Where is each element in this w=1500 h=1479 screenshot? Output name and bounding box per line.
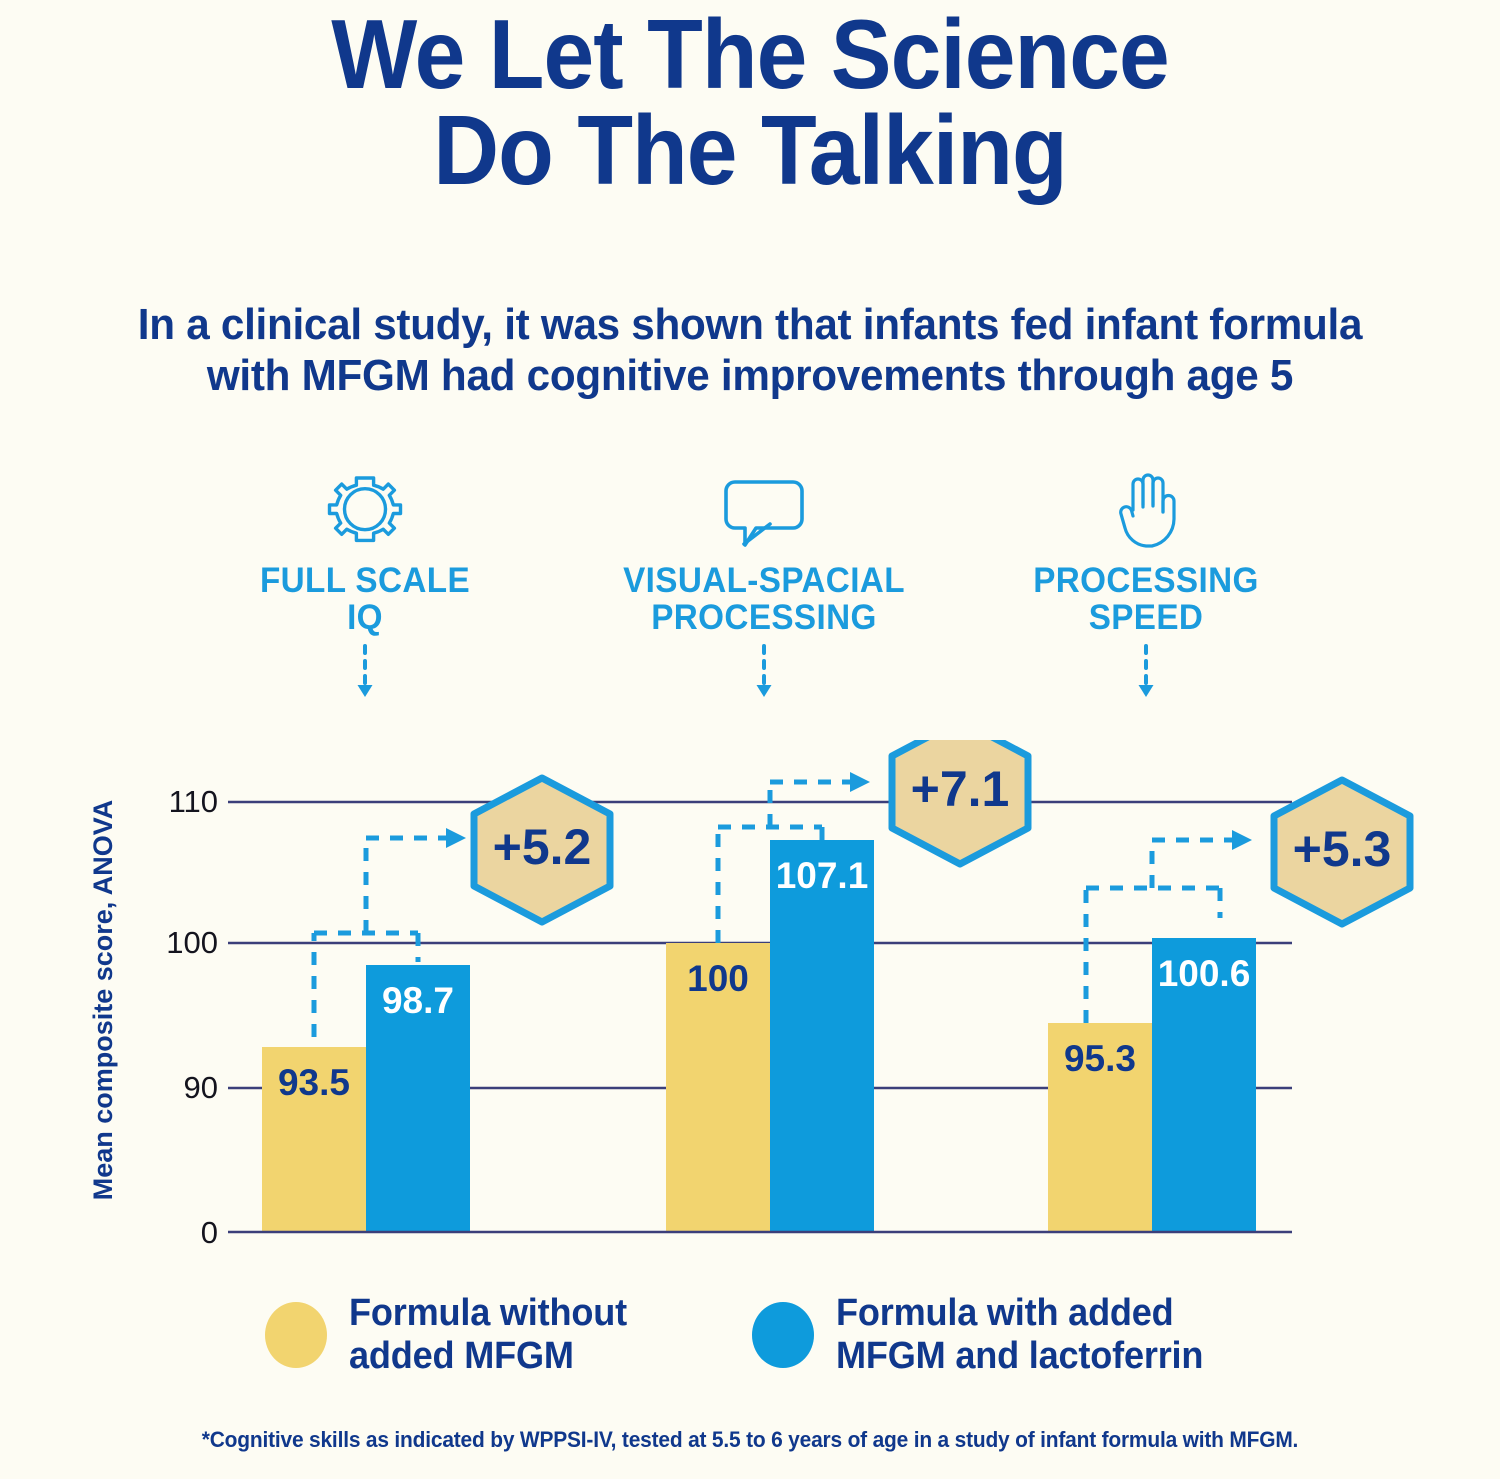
y-tick-label-90: 90 bbox=[184, 1070, 218, 1105]
delta-arrowhead-group-2 bbox=[850, 772, 870, 792]
y-tick-label-100: 100 bbox=[166, 925, 218, 960]
legend-swatch-yellow bbox=[265, 1302, 327, 1368]
delta-badge-value: +7.1 bbox=[911, 761, 1010, 817]
legend-item-with-mfgm: Formula with added MFGM and lactoferrin bbox=[752, 1292, 1223, 1377]
legend-label-line-2: added MFGM bbox=[349, 1335, 627, 1378]
subheading: In a clinical study, it was shown that i… bbox=[30, 300, 1470, 401]
delta-arrowhead-group-3 bbox=[1232, 830, 1252, 850]
bar-value-label: 98.7 bbox=[382, 980, 454, 1021]
headline-line-1: We Let The Science bbox=[53, 6, 1448, 102]
page-title: We Let The Science Do The Talking bbox=[53, 6, 1448, 198]
category-full-scale-iq: FULL SCALE IQ bbox=[215, 472, 515, 704]
delta-badge-value: +5.2 bbox=[493, 819, 592, 875]
subheading-line-2: with MFGM had cognitive improvements thr… bbox=[30, 351, 1470, 402]
legend-label-line-1: Formula without bbox=[349, 1292, 627, 1335]
bar-value-label: 95.3 bbox=[1064, 1038, 1136, 1079]
category-label: FULL SCALE IQ bbox=[223, 562, 508, 636]
category-label-line-1: FULL SCALE bbox=[223, 562, 508, 599]
delta-badge-group-3: +5.3 bbox=[1274, 780, 1410, 924]
bar-chart: Mean composite score, ANOVA 110 100 90 0… bbox=[0, 740, 1500, 1280]
y-axis-title: Mean composite score, ANOVA bbox=[88, 800, 118, 1201]
delta-badge-value: +5.3 bbox=[1293, 821, 1392, 877]
legend-item-without-mfgm: Formula without added MFGM bbox=[265, 1292, 642, 1377]
bar-with-mfgm-group-2 bbox=[770, 840, 874, 1232]
category-processing-speed: PROCESSING SPEED bbox=[996, 472, 1296, 704]
speech-bubble-icon bbox=[614, 472, 914, 554]
legend-swatch-blue bbox=[752, 1302, 814, 1368]
category-label-line-2: SPEED bbox=[1004, 599, 1289, 636]
gear-icon bbox=[215, 472, 515, 554]
chart-legend: Formula without added MFGM Formula with … bbox=[0, 1286, 1500, 1396]
delta-arrowhead-group-1 bbox=[446, 828, 466, 848]
legend-label: Formula with added MFGM and lactoferrin bbox=[836, 1292, 1203, 1377]
category-label: PROCESSING SPEED bbox=[1004, 562, 1289, 636]
footnote: *Cognitive skills as indicated by WPPSI-… bbox=[53, 1427, 1448, 1453]
category-label-line-1: VISUAL-SPACIAL bbox=[622, 562, 907, 599]
bar-value-label: 100 bbox=[687, 958, 749, 999]
bar-value-label: 93.5 bbox=[278, 1062, 350, 1103]
bar-value-label: 100.6 bbox=[1158, 953, 1251, 994]
legend-label-line-2: MFGM and lactoferrin bbox=[836, 1335, 1203, 1378]
headline-line-2: Do The Talking bbox=[53, 102, 1448, 198]
category-visual-spacial-processing: VISUAL-SPACIAL PROCESSING bbox=[614, 472, 914, 704]
down-arrow-icon bbox=[614, 644, 914, 704]
infographic-root: We Let The Science Do The Talking In a c… bbox=[0, 0, 1500, 1479]
delta-badge-group-1: +5.2 bbox=[474, 778, 610, 922]
bar-value-label: 107.1 bbox=[776, 855, 869, 896]
category-label-line-2: IQ bbox=[223, 599, 508, 636]
category-label-line-2: PROCESSING bbox=[622, 599, 907, 636]
delta-badge-group-2: +7.1 bbox=[892, 740, 1028, 864]
category-label-line-1: PROCESSING bbox=[1004, 562, 1289, 599]
down-arrow-icon bbox=[215, 644, 515, 704]
down-arrow-icon bbox=[996, 644, 1296, 704]
subheading-line-1: In a clinical study, it was shown that i… bbox=[30, 300, 1470, 351]
hand-icon bbox=[996, 472, 1296, 554]
legend-label: Formula without added MFGM bbox=[349, 1292, 627, 1377]
category-label: VISUAL-SPACIAL PROCESSING bbox=[622, 562, 907, 636]
y-tick-label-0: 0 bbox=[201, 1215, 218, 1250]
legend-label-line-1: Formula with added bbox=[836, 1292, 1203, 1335]
y-tick-label-110: 110 bbox=[169, 784, 218, 819]
